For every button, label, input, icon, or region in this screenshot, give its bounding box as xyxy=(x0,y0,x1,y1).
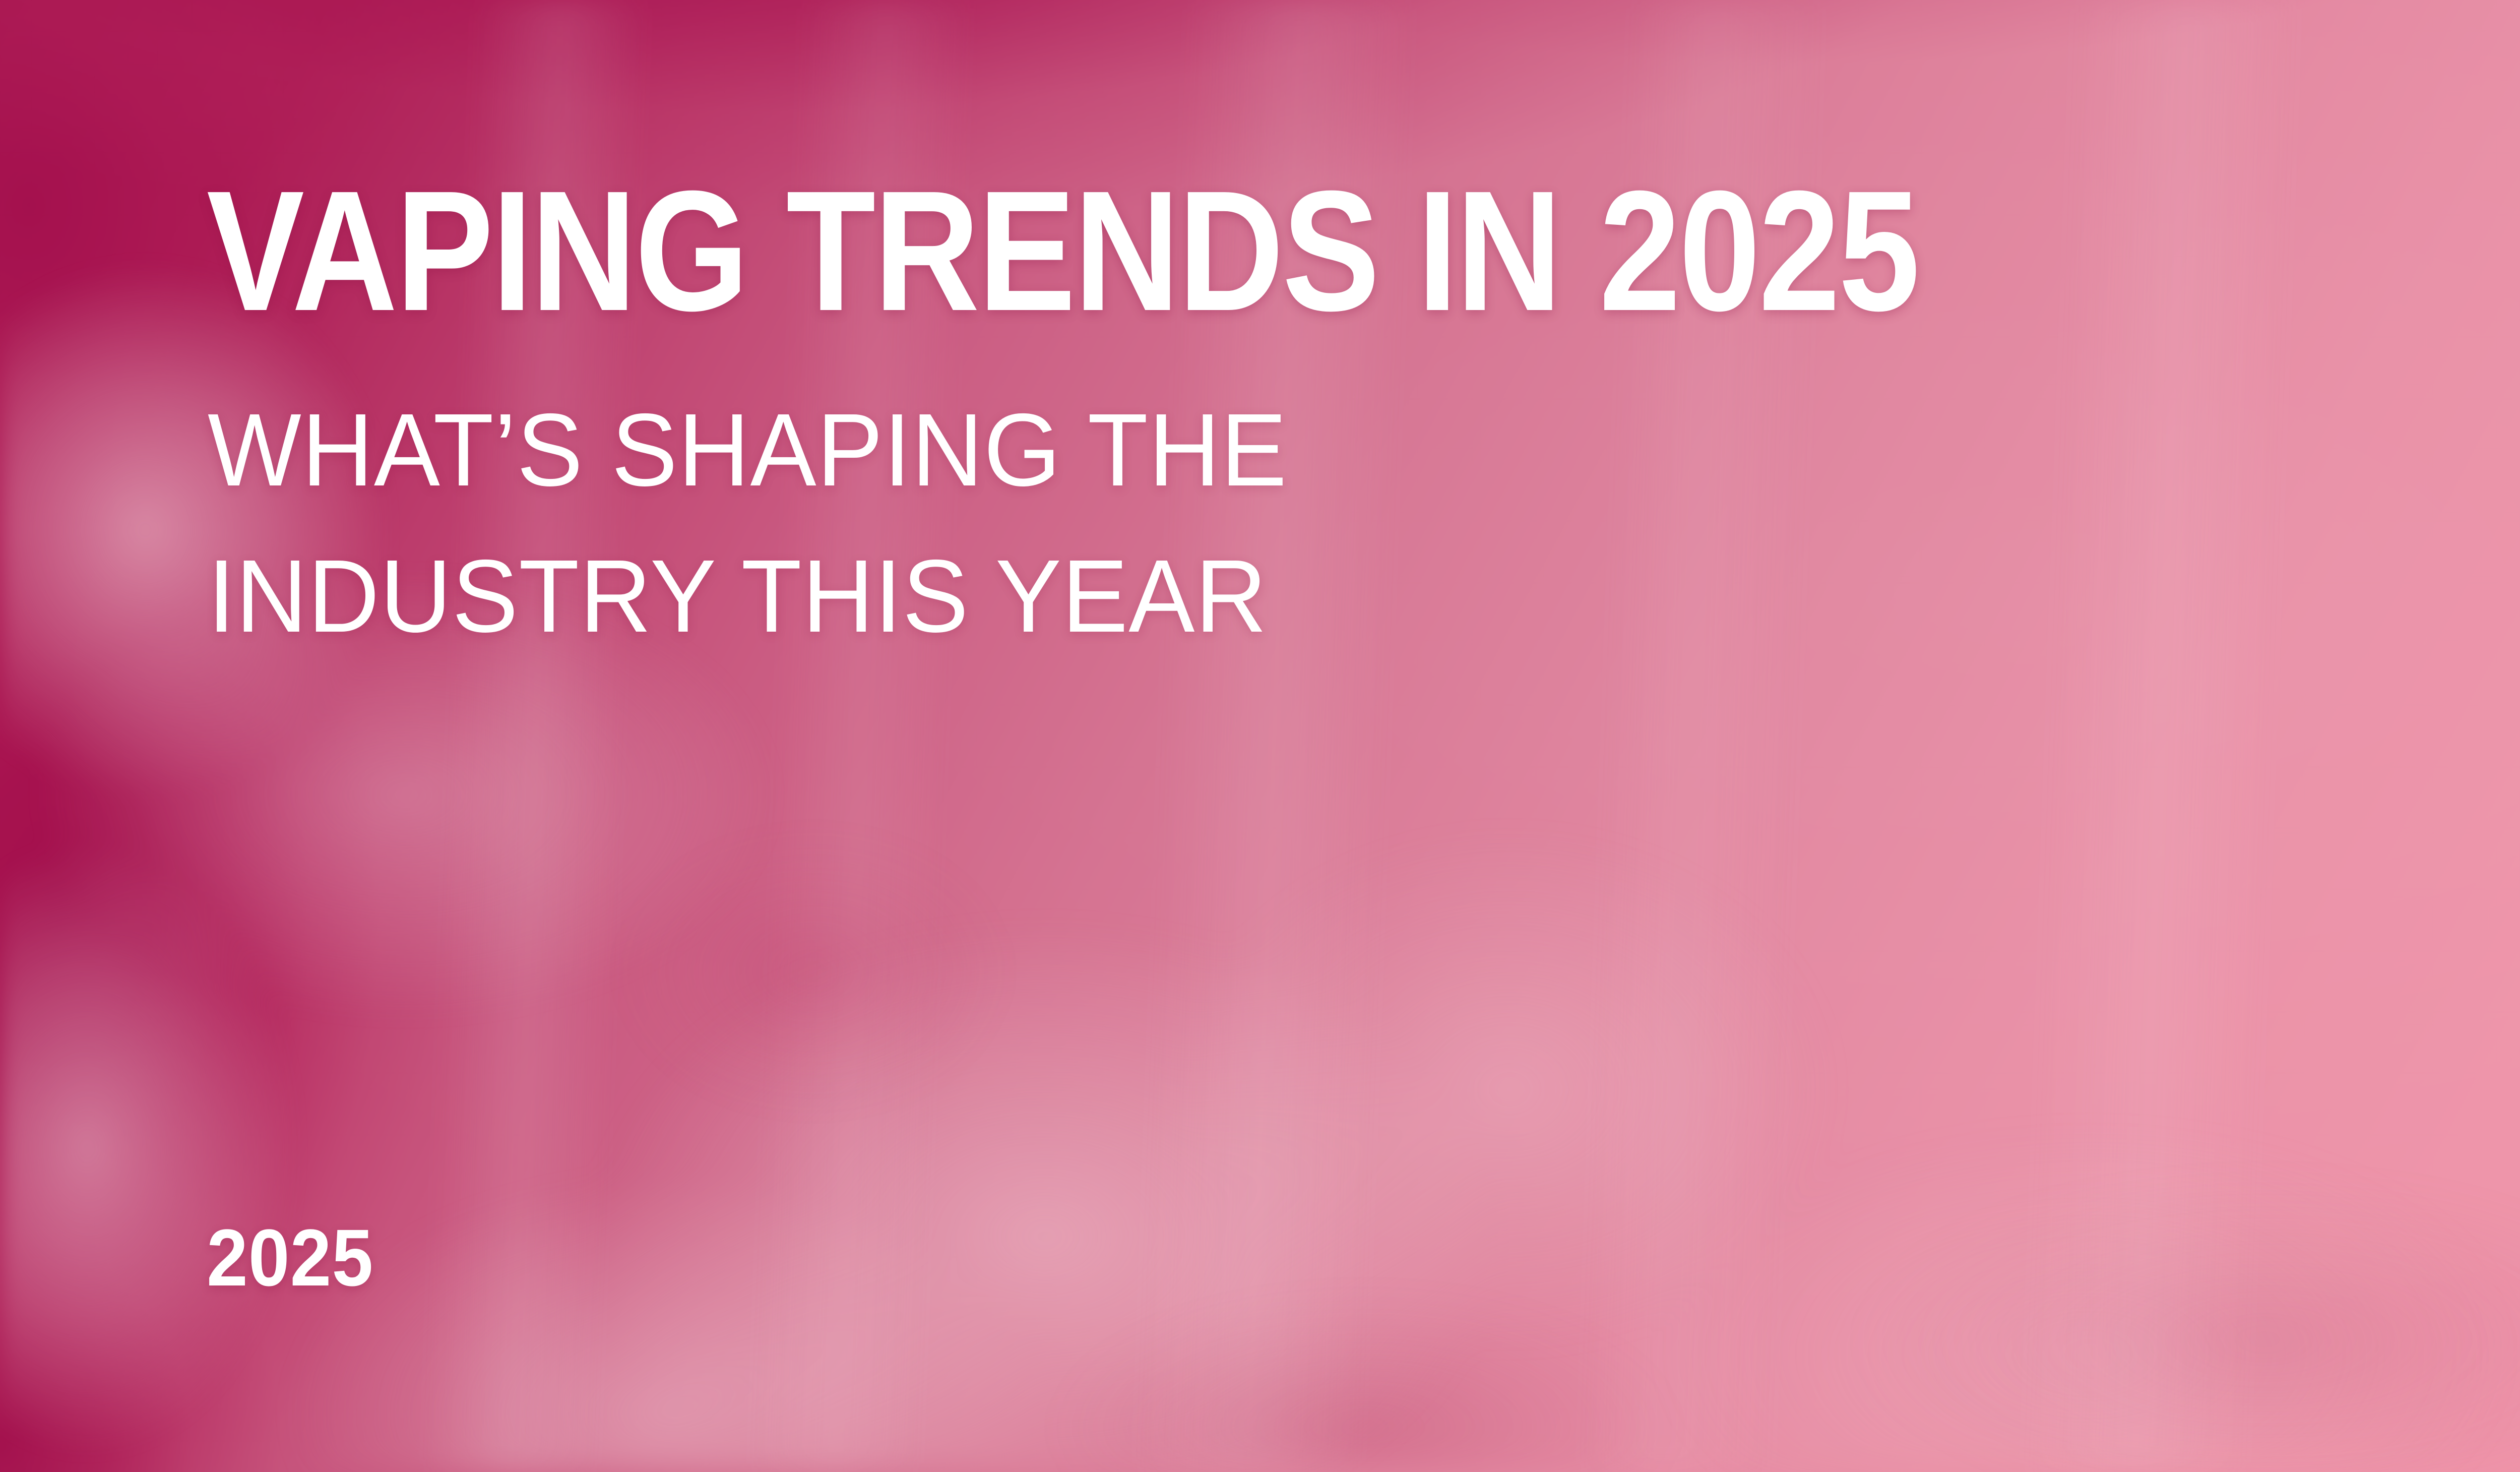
poster-year-badge: 2025 xyxy=(207,1217,373,1298)
poster-text-block: VAPING TRENDS IN 2025 WHAT’S SHAPING THE… xyxy=(207,0,2520,1472)
poster-subtitle-line-2: INDUSTRY THIS YEAR xyxy=(208,544,1268,648)
poster-headline: VAPING TRENDS IN 2025 xyxy=(207,177,1918,325)
poster-canvas: VAPING TRENDS IN 2025 WHAT’S SHAPING THE… xyxy=(0,0,2520,1472)
poster-subtitle-line-1: WHAT’S SHAPING THE xyxy=(208,398,1287,502)
